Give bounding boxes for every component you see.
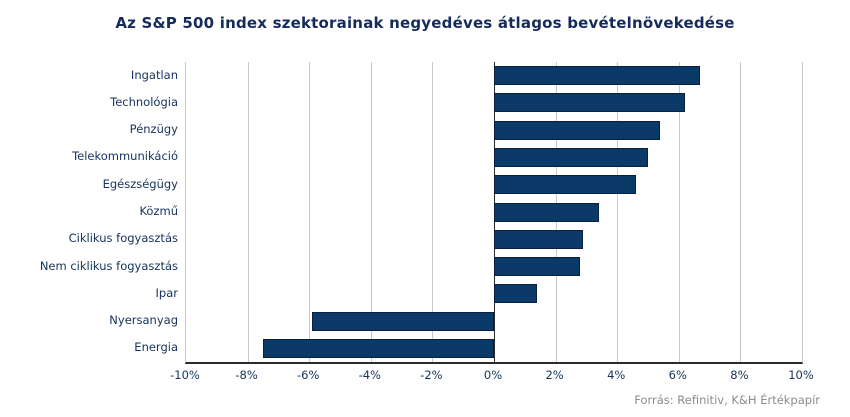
- chart-container: Az S&P 500 index szektorainak negyedéves…: [0, 0, 850, 417]
- y-axis-label: Nem ciklikus fogyasztás: [0, 259, 178, 273]
- x-axis-tick-label: -4%: [359, 368, 381, 382]
- bar: [494, 121, 660, 140]
- x-axis-tick-labels: -10%-8%-6%-4%-2%0%2%4%6%8%10%: [185, 368, 801, 388]
- x-axis-tick-label: 8%: [730, 368, 748, 382]
- y-axis-label: Pénzügy: [0, 122, 178, 136]
- bar: [494, 203, 599, 222]
- x-axis-tick-label: 0%: [484, 368, 502, 382]
- bar: [494, 175, 636, 194]
- bar: [494, 230, 583, 249]
- bar: [494, 148, 648, 167]
- bar: [263, 339, 494, 358]
- bar: [494, 284, 537, 303]
- y-axis-label: Nyersanyag: [0, 313, 178, 327]
- y-axis-label: Ingatlan: [0, 68, 178, 82]
- y-axis-label: Technológia: [0, 95, 178, 109]
- bar: [494, 66, 700, 85]
- chart-title: Az S&P 500 index szektorainak negyedéves…: [0, 14, 850, 32]
- bar: [312, 312, 494, 331]
- x-axis-tick-label: 6%: [669, 368, 687, 382]
- y-axis-label: Ciklikus fogyasztás: [0, 231, 178, 245]
- x-axis-tick-label: 2%: [545, 368, 563, 382]
- x-axis-tick-label: -2%: [420, 368, 442, 382]
- source-note: Forrás: Refinitiv, K&H Értékpapír: [634, 393, 820, 407]
- y-axis-label: Egészségügy: [0, 177, 178, 191]
- y-axis-category-labels: IngatlanTechnológiaPénzügyTelekommunikác…: [0, 62, 178, 362]
- y-axis-label: Ipar: [0, 286, 178, 300]
- y-axis-label: Telekommunikáció: [0, 149, 178, 163]
- x-axis-tick-label: -8%: [235, 368, 257, 382]
- x-axis-tick-label: -10%: [170, 368, 200, 382]
- x-axis-tick-label: -6%: [297, 368, 319, 382]
- bar: [494, 93, 685, 112]
- y-axis-label: Közmű: [0, 204, 178, 218]
- bar-series: [186, 62, 802, 362]
- y-axis-label: Energia: [0, 340, 178, 354]
- x-axis-tick-label: 4%: [607, 368, 625, 382]
- x-axis-tick-label: 10%: [788, 368, 814, 382]
- bar: [494, 257, 580, 276]
- plot-area: [185, 62, 803, 364]
